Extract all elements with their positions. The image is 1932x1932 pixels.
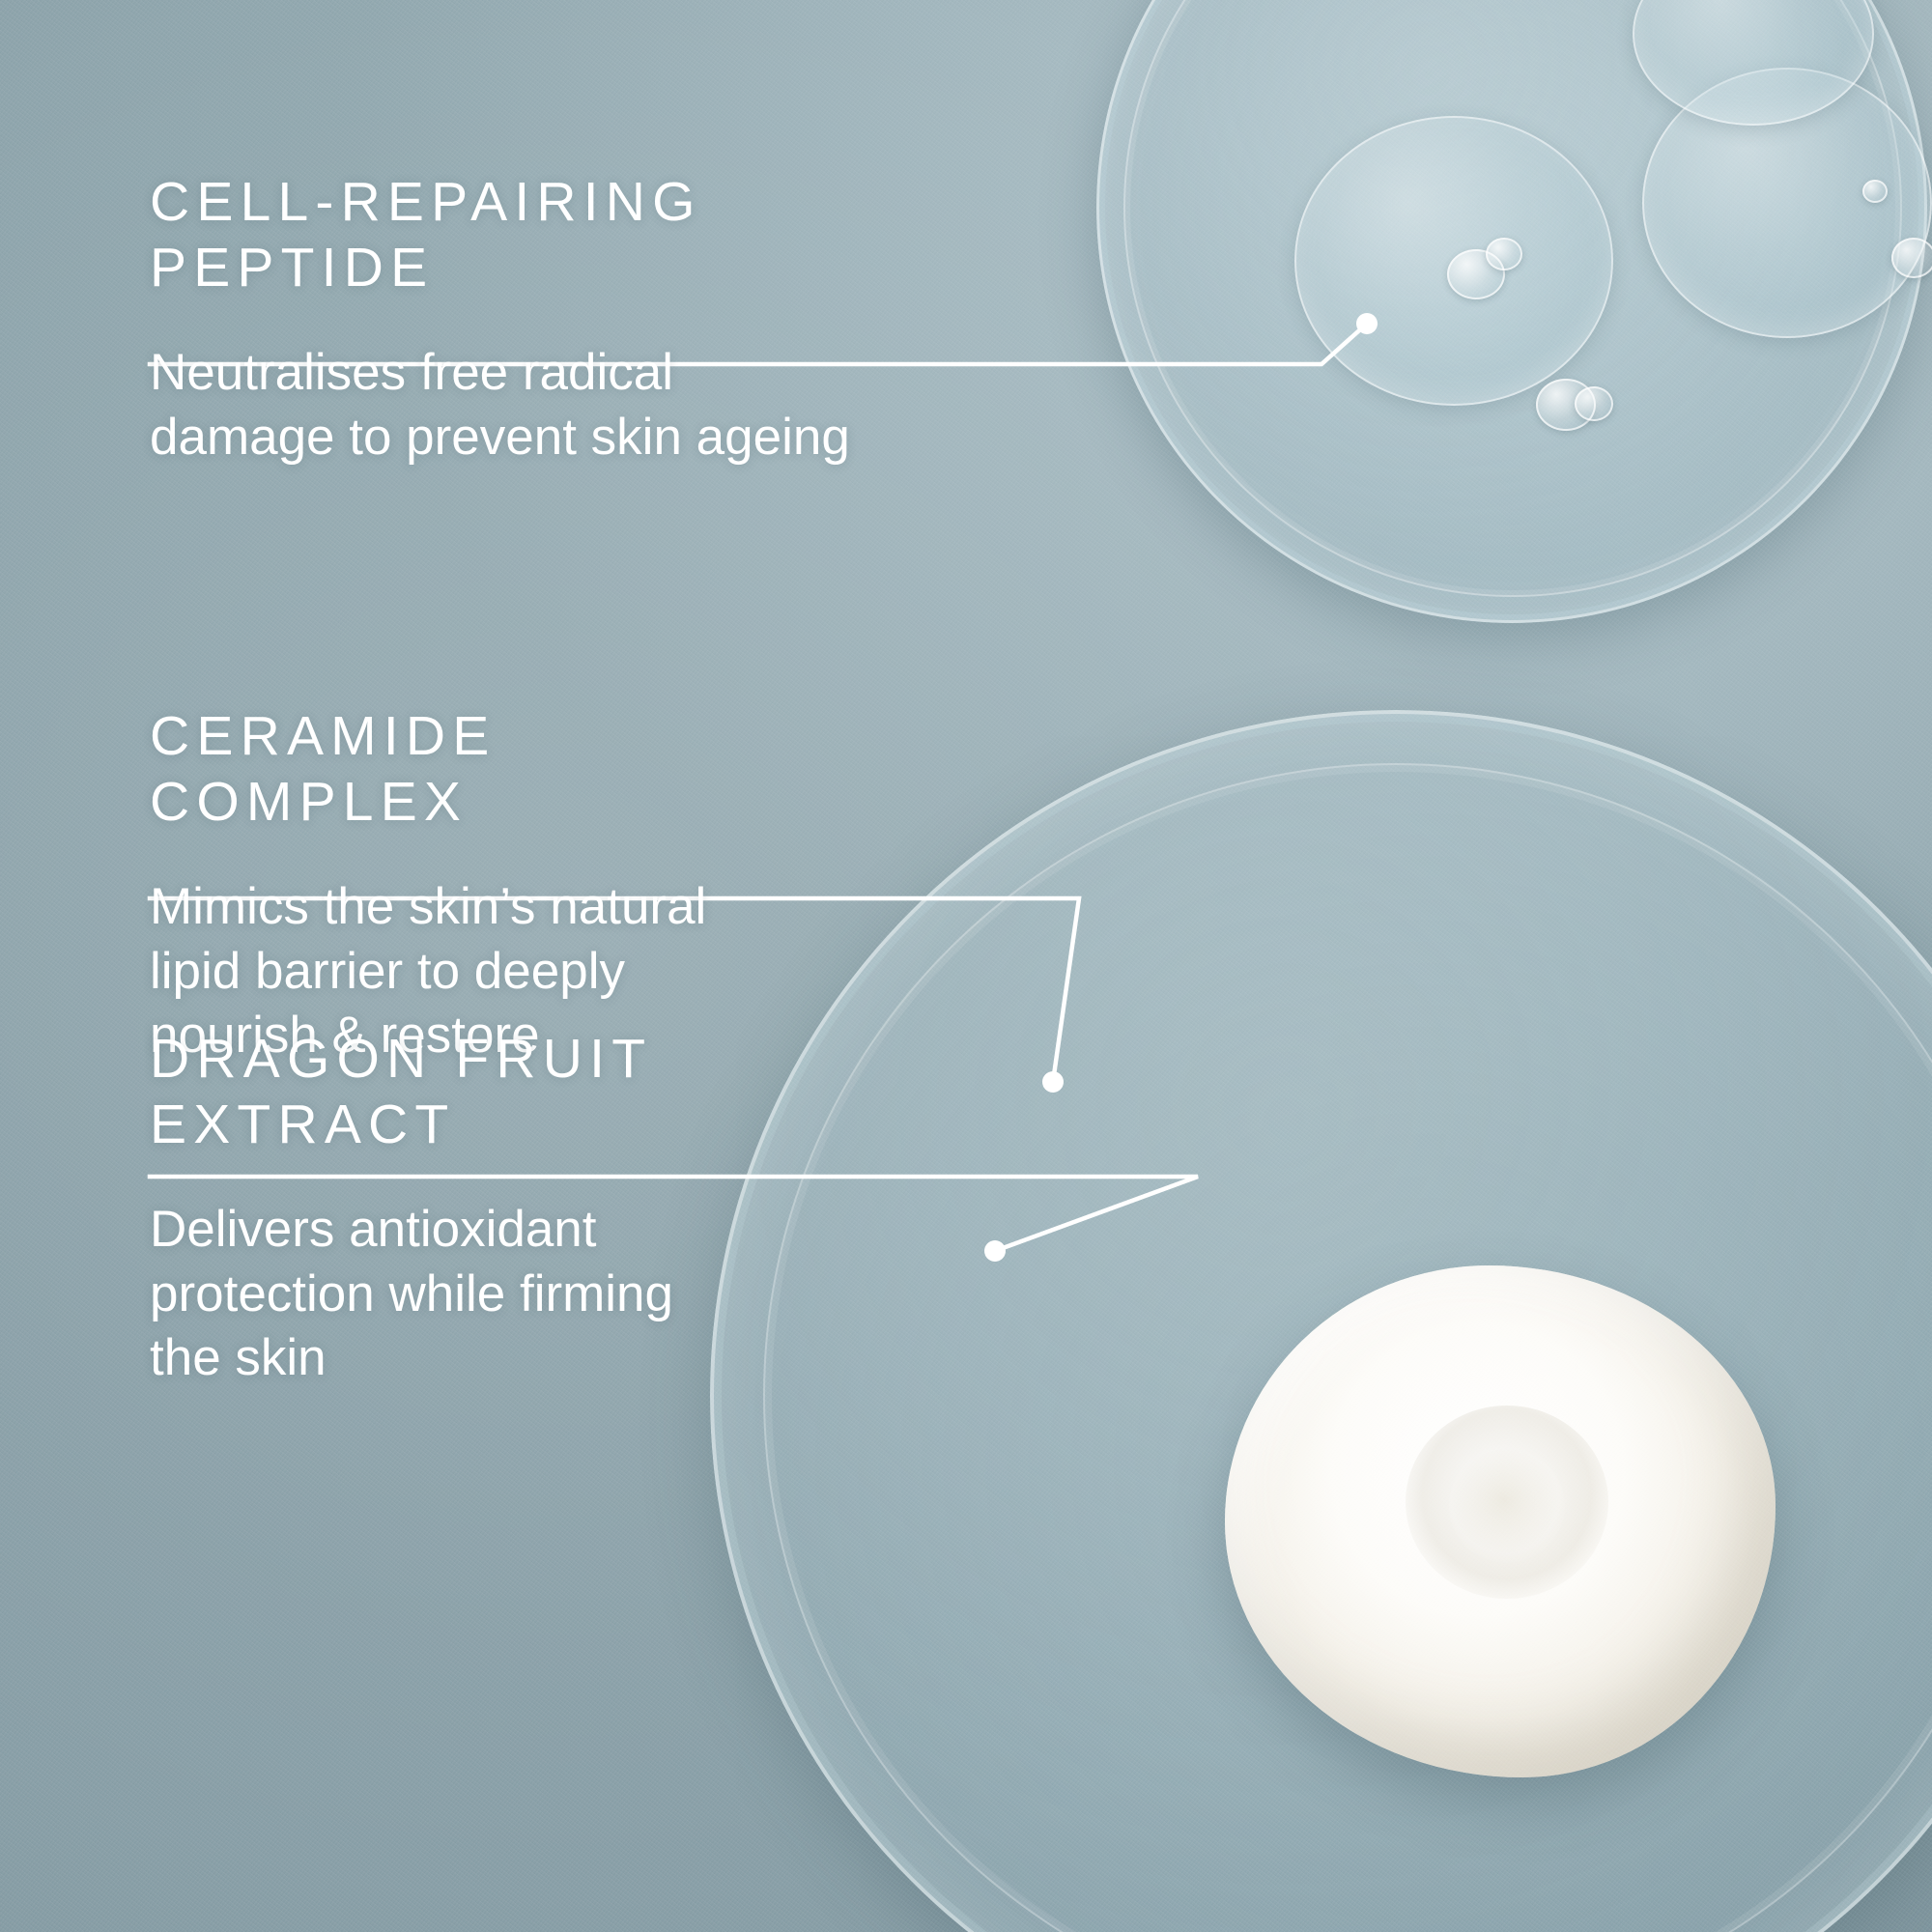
infographic-canvas: CELL-REPAIRING PEPTIDE Neutralises free … [0, 0, 1932, 1932]
ingredient-body: Delivers antioxidant protection while fi… [150, 1198, 673, 1391]
leader-dot-ceramide [1042, 1071, 1064, 1093]
leader-dot-dragonfruit [984, 1240, 1006, 1262]
ingredient-heading: CERAMIDE COMPLEX [150, 703, 706, 836]
leader-dot-peptide [1356, 313, 1378, 334]
ingredient-block-dragonfruit: DRAGON FRUIT EXTRACT Delivers antioxidan… [150, 1026, 673, 1391]
ingredient-block-ceramide: CERAMIDE COMPLEX Mimics the skin’s natur… [150, 703, 706, 1068]
ingredient-heading: CELL-REPAIRING PEPTIDE [150, 169, 850, 301]
ingredient-body: Neutralises free radical damage to preve… [150, 341, 850, 470]
ingredient-heading: DRAGON FRUIT EXTRACT [150, 1026, 673, 1158]
ingredient-block-peptide: CELL-REPAIRING PEPTIDE Neutralises free … [150, 169, 850, 469]
